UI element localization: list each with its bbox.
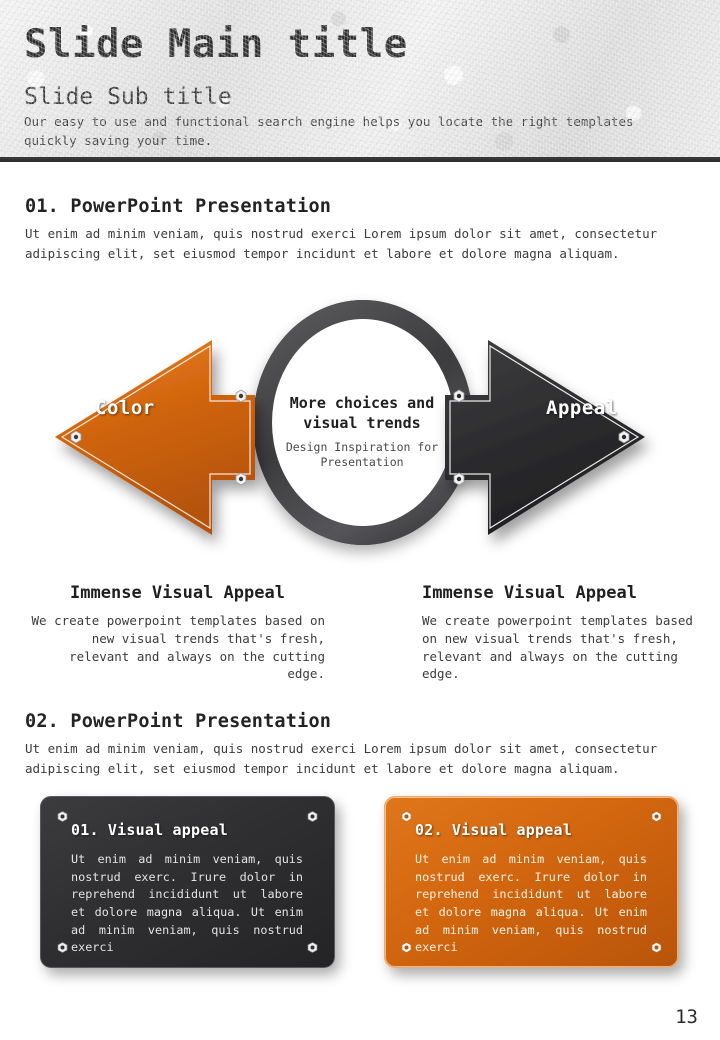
rivet-icon [619,431,629,443]
right-arrow-label: Appeal [546,397,618,419]
arrow-circle-diagram: Color [0,285,720,575]
left-arrow-shape [55,340,255,535]
center-title: More choices and visual trends [262,393,462,434]
right-arrow-shape [445,340,645,535]
rivet-icon [236,390,246,402]
center-text: More choices and visual trends Design In… [262,393,462,471]
card-01-body: Ut enim ad minim veniam, quis nostrud ex… [71,851,303,957]
section-01-description: Ut enim ad minim veniam, quis nostrud ex… [25,224,680,264]
header-divider [0,157,720,162]
rivet-icon [71,431,81,443]
card-visual-appeal-02[interactable]: 02. Visual appeal Ut enim ad minim venia… [384,796,679,968]
center-subtitle: Design Inspiration for Presentation [262,440,462,471]
card-visual-appeal-01[interactable]: 01. Visual appeal Ut enim ad minim venia… [40,796,335,968]
rivet-icon [57,942,68,953]
rivet-icon [307,811,318,822]
rivet-icon [651,811,662,822]
card-01-title: 01. Visual appeal [71,821,312,839]
rivet-icon [236,473,246,485]
caption-right-title: Immense Visual Appeal [400,583,695,603]
page-subtitle: Slide Sub title [24,84,232,110]
section-02-title: 02. PowerPoint Presentation [25,711,331,732]
rivet-icon [307,942,318,953]
card-02-body: Ut enim ad minim veniam, quis nostrud ex… [415,851,647,957]
section-01-title: 01. PowerPoint Presentation [25,196,331,217]
caption-left: Immense Visual Appeal We create powerpoi… [30,583,325,683]
header-description: Our easy to use and functional search en… [24,112,664,151]
rivet-icon [651,942,662,953]
caption-left-title: Immense Visual Appeal [30,583,325,603]
rivet-icon [57,811,68,822]
card-02-title: 02. Visual appeal [415,821,656,839]
page-number: 13 [675,1006,698,1028]
caption-left-body: We create powerpoint templates based on … [30,612,325,683]
slide-header: Slide Main title Slide Sub title Our eas… [0,0,720,157]
caption-right: Immense Visual Appeal We create powerpoi… [400,583,695,683]
caption-right-body: We create powerpoint templates based on … [400,612,695,683]
rivet-icon [401,942,412,953]
left-arrow-label: Color [95,397,155,419]
rivet-icon [401,811,412,822]
rivet-icon [454,473,464,485]
slide: Slide Main title Slide Sub title Our eas… [0,0,720,1040]
section-02-description: Ut enim ad minim veniam, quis nostrud ex… [25,739,680,779]
page-title: Slide Main title [24,22,408,67]
